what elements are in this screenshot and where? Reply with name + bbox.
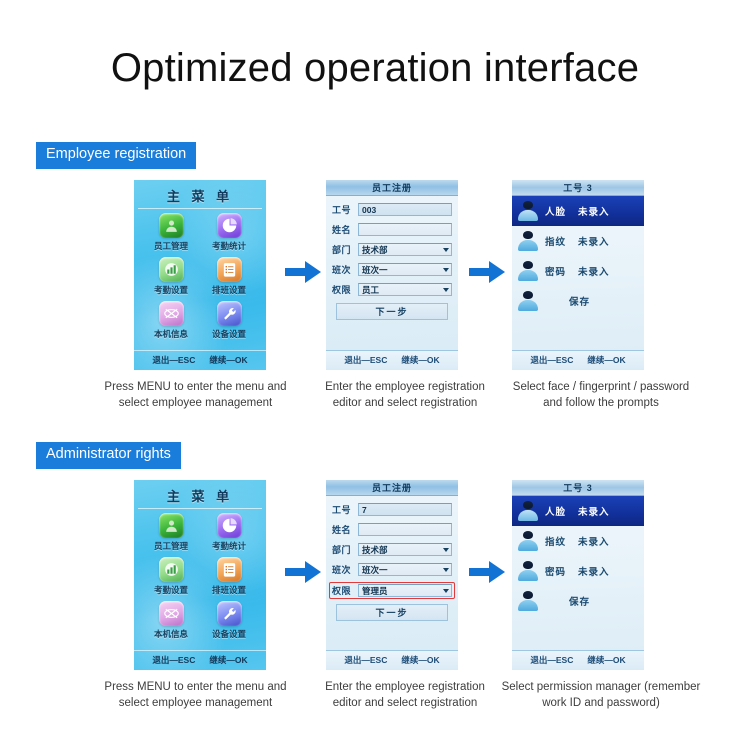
enrol-title: 工号 3 [512, 180, 644, 196]
person-icon [517, 530, 539, 552]
person-icon [517, 560, 539, 582]
footer-confirm-label[interactable]: 继续—OK [401, 354, 439, 366]
field-label: 工号 [332, 203, 358, 216]
menu-item-label: 设备设置 [212, 328, 246, 340]
screen-footer: 退出—ESC 继续—OK [134, 350, 266, 370]
enrol-row-fingerprint[interactable]: 指纹 未录入 [512, 226, 644, 256]
enrol-status: 未录入 [578, 534, 610, 548]
person-icon [517, 260, 539, 282]
enrol-row-text: 保存 [545, 294, 644, 308]
next-step-button[interactable]: 下一步 [336, 604, 448, 621]
field-label: 部门 [332, 243, 358, 256]
wrench-icon [217, 301, 242, 326]
section-chip-administrator-rights: Administrator rights [36, 442, 181, 469]
menu-item-label: 考勤统计 [212, 540, 246, 552]
permission-value: 管理员 [362, 585, 388, 597]
screen-footer: 退出—ESC 继续—OK [512, 650, 644, 670]
person-icon [517, 590, 539, 612]
shift-value: 班次一 [362, 264, 388, 276]
enrol-row-save[interactable]: 保存 [512, 286, 644, 316]
form-row-employee-id: 工号 003 [332, 203, 452, 216]
person-icon [517, 290, 539, 312]
screen-footer: 退出—ESC 继续—OK [326, 350, 458, 370]
screen-footer: 退出—ESC 继续—OK [512, 350, 644, 370]
form-body: 工号 003 姓名 部门 技术部 班次 班次一 [326, 196, 458, 320]
menu-item-label: 本机信息 [154, 328, 188, 340]
form-row-shift: 班次 班次一 [332, 563, 452, 576]
clipboard-icon [217, 257, 242, 282]
enrol-status: 未录入 [578, 264, 610, 278]
enrol-row-password[interactable]: 密码 未录入 [512, 256, 644, 286]
menu-item-employee-management[interactable]: 员工管理 [142, 513, 200, 557]
enrol-row-text: 指纹 未录入 [545, 234, 610, 248]
footer-exit-label[interactable]: 退出—ESC [530, 654, 573, 666]
attendance-icon [159, 257, 184, 282]
person-icon [517, 230, 539, 252]
field-label: 部门 [332, 543, 358, 556]
attendance-icon [159, 557, 184, 582]
field-label: 姓名 [332, 223, 358, 236]
employee-icon [159, 513, 184, 538]
form-row-department: 部门 技术部 [332, 543, 452, 556]
chevron-down-icon [443, 568, 449, 572]
menu-item-device-info[interactable]: 本机信息 [142, 301, 200, 345]
name-input[interactable] [358, 523, 452, 536]
field-label: 班次 [332, 563, 358, 576]
pie-chart-icon [217, 213, 242, 238]
enrol-label: 指纹 [545, 534, 566, 548]
field-label: 权限 [332, 584, 358, 597]
device-screen-employee-registration-form-admin[interactable]: 员工注册 工号 7 姓名 部门 技术部 班次 班次一 [326, 480, 458, 670]
chevron-down-icon [443, 548, 449, 552]
form-row-name: 姓名 [332, 223, 452, 236]
enrol-row-password[interactable]: 密码 未录入 [512, 556, 644, 586]
footer-confirm-label[interactable]: 继续—OK [587, 354, 625, 366]
caption-step-1: Press MENU to enter the menu and select … [88, 680, 303, 711]
menu-divider [138, 508, 262, 509]
permission-value: 员工 [362, 284, 379, 296]
person-icon [517, 500, 539, 522]
menu-item-label: 排班设置 [212, 284, 246, 296]
form-title: 员工注册 [326, 480, 458, 496]
section-chip-employee-registration: Employee registration [36, 142, 196, 169]
device-screen-main-menu[interactable]: 主 菜 单 员工管理 考勤统计 考勤设置 [134, 180, 266, 370]
form-row-permission: 权限 员工 [332, 283, 452, 296]
enrol-label: 密码 [545, 264, 566, 278]
menu-grid: 员工管理 考勤统计 考勤设置 排班设置 [134, 211, 266, 345]
employee-id-input[interactable]: 7 [358, 503, 452, 516]
arrow-right-icon [467, 558, 507, 586]
arrow-right-icon [467, 258, 507, 286]
chevron-down-icon [443, 268, 449, 272]
chevron-down-icon [443, 248, 449, 252]
field-label: 工号 [332, 503, 358, 516]
shift-select[interactable]: 班次一 [358, 563, 452, 576]
shift-select[interactable]: 班次一 [358, 263, 452, 276]
caption-step-1: Press MENU to enter the menu and select … [88, 380, 303, 411]
department-value: 技术部 [362, 244, 388, 256]
footer-exit-label[interactable]: 退出—ESC [344, 354, 387, 366]
menu-item-label: 员工管理 [154, 240, 188, 252]
menu-item-shift-settings[interactable]: 排班设置 [200, 257, 258, 301]
enrol-label: 人脸 [545, 204, 566, 218]
pie-chart-icon [217, 513, 242, 538]
field-label: 权限 [332, 283, 358, 296]
arrow-right-icon [283, 258, 323, 286]
name-input[interactable] [358, 223, 452, 236]
menu-item-label: 设备设置 [212, 628, 246, 640]
chevron-down-icon [443, 288, 449, 292]
caption-step-3: Select face / fingerprint / password and… [496, 380, 706, 411]
arrow-right-icon [283, 558, 323, 586]
department-select[interactable]: 技术部 [358, 543, 452, 556]
wrench-icon [217, 601, 242, 626]
footer-exit-label[interactable]: 退出—ESC [344, 654, 387, 666]
device-screen-enrolment[interactable]: 工号 3 人脸 未录入 指纹 未录入 密码 未录入 保存 [512, 480, 644, 670]
caption-step-3: Select permission manager (remember work… [496, 680, 706, 711]
enrol-row-save[interactable]: 保存 [512, 586, 644, 616]
menu-item-attendance-settings[interactable]: 考勤设置 [142, 557, 200, 601]
enrol-row-face[interactable]: 人脸 未录入 [512, 196, 644, 226]
enrol-label: 保存 [569, 594, 590, 608]
permission-select[interactable]: 管理员 [358, 584, 452, 597]
menu-item-employee-management[interactable]: 员工管理 [142, 213, 200, 257]
menu-item-label: 排班设置 [212, 584, 246, 596]
enrol-title: 工号 3 [512, 480, 644, 496]
menu-item-label: 考勤设置 [154, 284, 188, 296]
form-title: 员工注册 [326, 180, 458, 196]
field-label: 姓名 [332, 523, 358, 536]
enrol-label: 密码 [545, 564, 566, 578]
department-value: 技术部 [362, 544, 388, 556]
enrol-row-face[interactable]: 人脸 未录入 [512, 496, 644, 526]
form-row-name: 姓名 [332, 523, 452, 536]
caption-step-2: Enter the employee registration editor a… [310, 680, 500, 711]
chevron-down-icon [443, 589, 449, 593]
enrol-row-text: 人脸 未录入 [545, 504, 610, 518]
menu-item-label: 员工管理 [154, 540, 188, 552]
field-label: 班次 [332, 263, 358, 276]
footer-exit-label[interactable]: 退出—ESC [152, 354, 195, 366]
enrol-row-text: 指纹 未录入 [545, 534, 610, 548]
form-body: 工号 7 姓名 部门 技术部 班次 班次一 [326, 496, 458, 621]
device-info-icon [159, 301, 184, 326]
form-row-employee-id: 工号 7 [332, 503, 452, 516]
menu-title: 主 菜 单 [134, 480, 266, 508]
employee-icon [159, 213, 184, 238]
device-screen-main-menu[interactable]: 主 菜 单 员工管理 考勤统计 考勤设置 [134, 480, 266, 670]
form-row-department: 部门 技术部 [332, 243, 452, 256]
menu-title: 主 菜 单 [134, 180, 266, 208]
enrol-row-fingerprint[interactable]: 指纹 未录入 [512, 526, 644, 556]
flow-row-employee-registration: 主 菜 单 员工管理 考勤统计 考勤设置 [0, 180, 750, 415]
device-screen-enrolment[interactable]: 工号 3 人脸 未录入 指纹 未录入 密码 未录入 保存 [512, 180, 644, 370]
form-row-shift: 班次 班次一 [332, 263, 452, 276]
menu-grid: 员工管理 考勤统计 考勤设置 排班设置 [134, 511, 266, 645]
menu-item-shift-settings[interactable]: 排班设置 [200, 557, 258, 601]
footer-confirm-label[interactable]: 继续—OK [401, 654, 439, 666]
menu-item-device-info[interactable]: 本机信息 [142, 601, 200, 645]
caption-step-2: Enter the employee registration editor a… [310, 380, 500, 411]
permission-select[interactable]: 员工 [358, 283, 452, 296]
menu-item-label: 本机信息 [154, 628, 188, 640]
footer-exit-label[interactable]: 退出—ESC [530, 354, 573, 366]
enrol-row-text: 人脸 未录入 [545, 204, 610, 218]
enrol-row-text: 密码 未录入 [545, 264, 610, 278]
next-step-button[interactable]: 下一步 [336, 303, 448, 320]
person-icon [517, 200, 539, 222]
employee-id-input[interactable]: 003 [358, 203, 452, 216]
footer-confirm-label[interactable]: 继续—OK [587, 654, 625, 666]
menu-divider [138, 208, 262, 209]
form-row-permission-highlighted: 权限 管理员 [329, 582, 455, 599]
device-info-icon [159, 601, 184, 626]
department-select[interactable]: 技术部 [358, 243, 452, 256]
menu-item-label: 考勤设置 [154, 584, 188, 596]
page-title: Optimized operation interface [0, 46, 750, 90]
shift-value: 班次一 [362, 564, 388, 576]
menu-item-device-settings[interactable]: 设备设置 [200, 301, 258, 345]
menu-item-attendance-settings[interactable]: 考勤设置 [142, 257, 200, 301]
clipboard-icon [217, 557, 242, 582]
menu-item-attendance-statistics[interactable]: 考勤统计 [200, 513, 258, 557]
device-screen-employee-registration-form[interactable]: 员工注册 工号 003 姓名 部门 技术部 班次 班次一 [326, 180, 458, 370]
enrol-status: 未录入 [578, 204, 610, 218]
menu-item-attendance-statistics[interactable]: 考勤统计 [200, 213, 258, 257]
flow-row-administrator-rights: 主 菜 单 员工管理 考勤统计 考勤设置 [0, 480, 750, 715]
enrol-label: 保存 [569, 294, 590, 308]
enrol-label: 人脸 [545, 504, 566, 518]
enrol-label: 指纹 [545, 234, 566, 248]
enrol-status: 未录入 [578, 234, 610, 248]
footer-confirm-label[interactable]: 继续—OK [209, 354, 247, 366]
enrol-status: 未录入 [578, 504, 610, 518]
enrol-status: 未录入 [578, 564, 610, 578]
enrol-row-text: 密码 未录入 [545, 564, 610, 578]
screen-footer: 退出—ESC 继续—OK [326, 650, 458, 670]
enrol-row-text: 保存 [545, 594, 644, 608]
menu-item-label: 考勤统计 [212, 240, 246, 252]
footer-confirm-label[interactable]: 继续—OK [209, 654, 247, 666]
footer-exit-label[interactable]: 退出—ESC [152, 654, 195, 666]
menu-item-device-settings[interactable]: 设备设置 [200, 601, 258, 645]
screen-footer: 退出—ESC 继续—OK [134, 650, 266, 670]
